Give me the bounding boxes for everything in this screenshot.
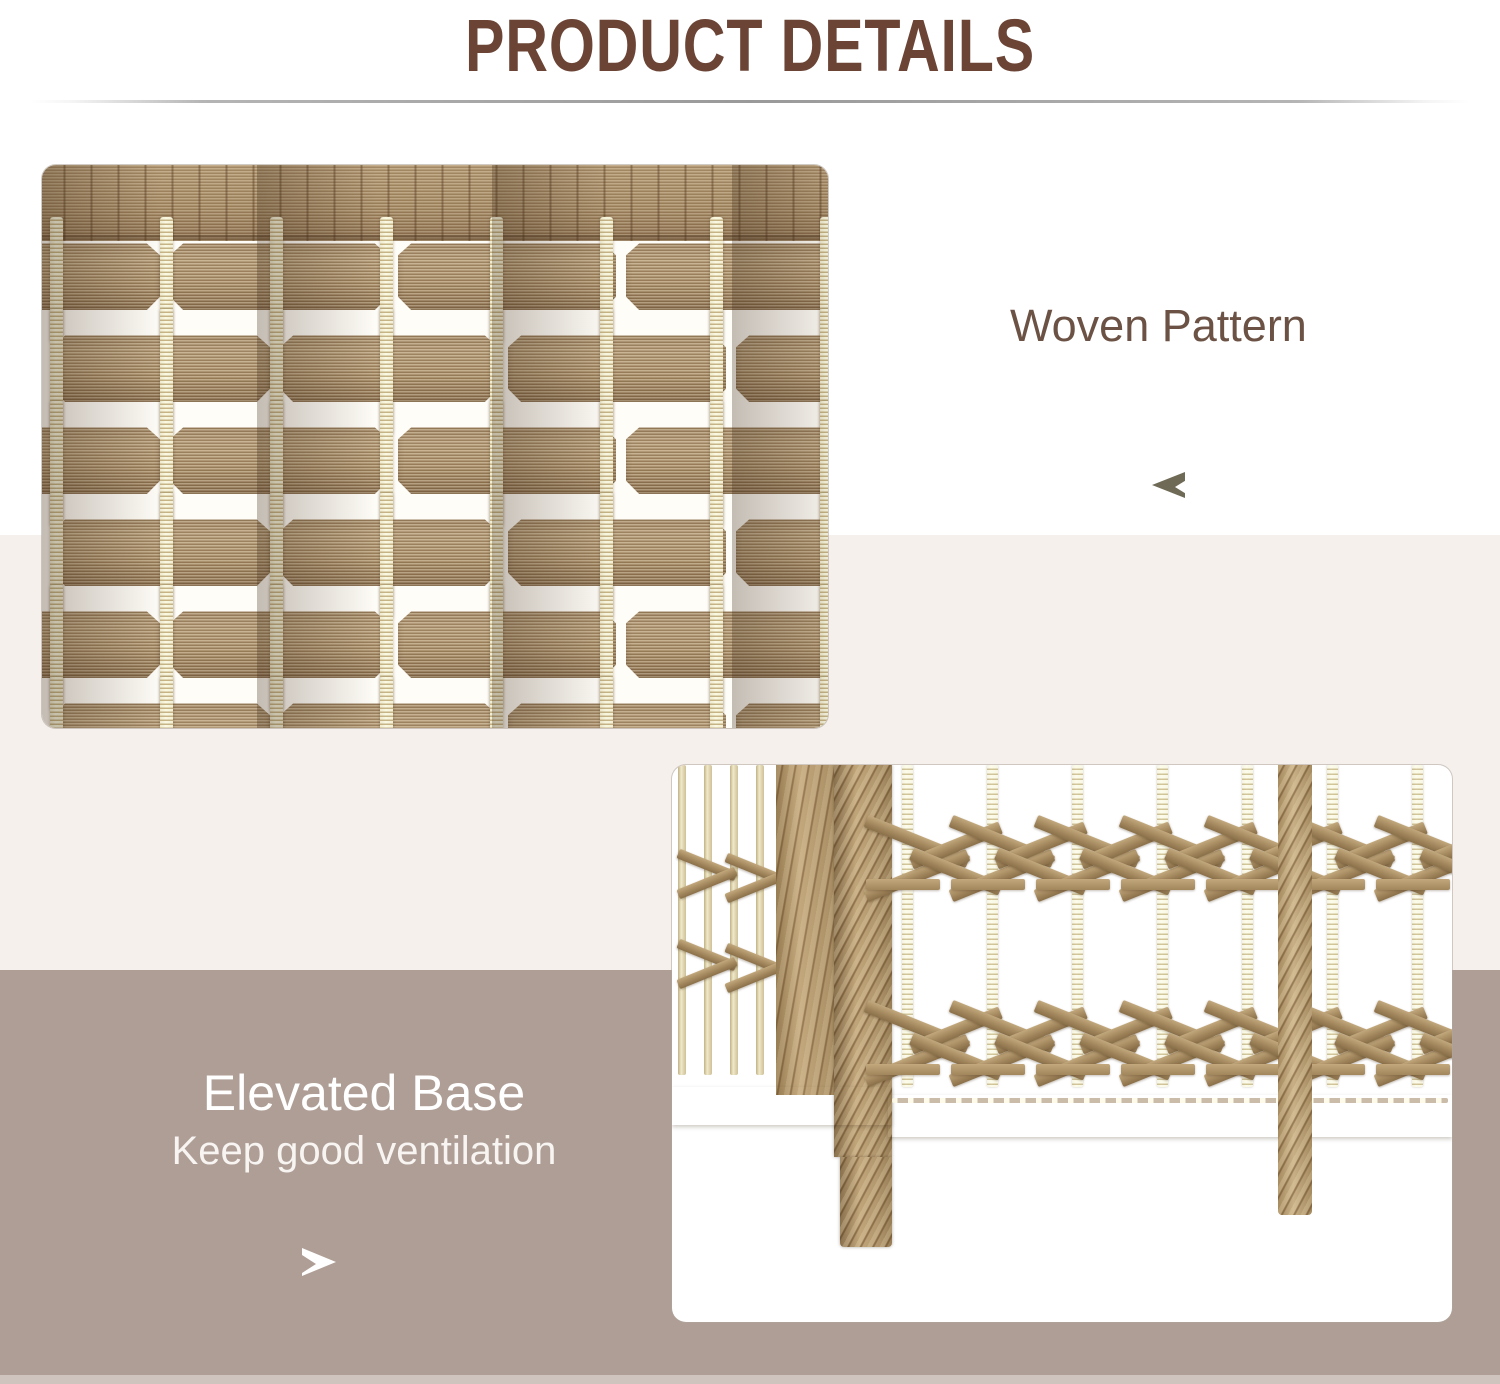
front-h-weave bbox=[1036, 879, 1110, 890]
woven-slat bbox=[508, 331, 726, 405]
elevated-base-title: Elevated Base bbox=[104, 1062, 624, 1124]
woven-rows bbox=[42, 241, 828, 728]
elevated-base-illustration bbox=[672, 765, 1452, 1322]
bottom-rail-studs bbox=[892, 1098, 1448, 1103]
corner-post-leg bbox=[840, 1157, 892, 1247]
elevated-base-callout: Elevated Base Keep good ventilation bbox=[104, 1062, 624, 1178]
side-panel-cord bbox=[756, 765, 764, 1075]
front-h-weave bbox=[1376, 879, 1450, 890]
woven-cord-post bbox=[160, 677, 173, 728]
woven-cord-post bbox=[710, 677, 723, 728]
front-h-weave bbox=[1121, 879, 1195, 890]
side-panel-cord bbox=[730, 765, 738, 1075]
woven-cord-post bbox=[600, 677, 613, 728]
front-h-weave bbox=[1376, 1064, 1450, 1075]
woven-pattern-label: Woven Pattern bbox=[1010, 300, 1307, 352]
arrow-right-icon-notch bbox=[302, 1255, 316, 1273]
woven-pattern-illustration bbox=[42, 165, 828, 728]
right-leg bbox=[1278, 765, 1312, 1215]
front-h-weave bbox=[866, 879, 940, 890]
woven-row bbox=[42, 693, 828, 728]
woven-slat bbox=[508, 699, 726, 728]
woven-slat bbox=[626, 607, 828, 681]
front-h-weave bbox=[1206, 879, 1280, 890]
woven-cord-post bbox=[380, 677, 393, 728]
header-divider bbox=[30, 100, 1470, 103]
woven-pattern-photo bbox=[42, 165, 828, 728]
woven-slat bbox=[398, 607, 616, 681]
arrow-left-icon-notch bbox=[1175, 479, 1188, 495]
woven-cord-post bbox=[50, 677, 63, 728]
side-panel-wrapped-face bbox=[776, 765, 834, 1095]
elevated-base-photo bbox=[672, 765, 1452, 1322]
woven-slat bbox=[736, 515, 828, 589]
product-details-page: PRODUCT DETAILS Woven Pattern Elevated B… bbox=[0, 0, 1500, 1384]
front-h-weave bbox=[1206, 1064, 1280, 1075]
woven-slat bbox=[736, 331, 828, 405]
background-band-footer bbox=[0, 1375, 1500, 1384]
page-title: PRODUCT DETAILS bbox=[150, 0, 1350, 94]
front-h-weave bbox=[866, 1064, 940, 1075]
side-panel-cord bbox=[704, 765, 712, 1075]
woven-slat bbox=[626, 423, 828, 497]
side-panel-cord bbox=[678, 765, 686, 1075]
bottom-rail bbox=[672, 1087, 892, 1125]
woven-slat bbox=[398, 423, 616, 497]
woven-cord-post bbox=[490, 677, 503, 728]
woven-slat bbox=[626, 239, 828, 313]
front-h-weave bbox=[951, 1064, 1025, 1075]
woven-slat bbox=[398, 239, 616, 313]
front-h-weave bbox=[1036, 1064, 1110, 1075]
elevated-base-subtitle: Keep good ventilation bbox=[104, 1124, 624, 1178]
front-h-weave bbox=[951, 879, 1025, 890]
front-h-weave bbox=[1121, 1064, 1195, 1075]
woven-cord-post bbox=[820, 677, 828, 728]
woven-slat bbox=[736, 699, 828, 728]
woven-cord-post bbox=[270, 677, 283, 728]
woven-slat bbox=[508, 515, 726, 589]
